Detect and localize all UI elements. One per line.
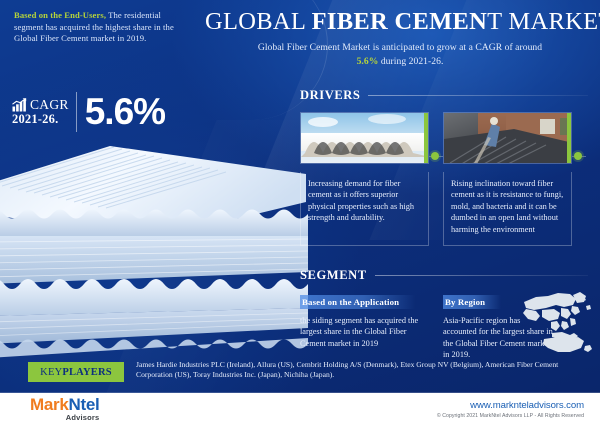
logo-mark-text: Mark bbox=[30, 395, 69, 414]
segment-text-application: the siding segment has acquired the larg… bbox=[300, 315, 429, 349]
end-user-highlight: Based on the End-Users, bbox=[14, 10, 106, 20]
title-part-strong: FIBER CEMEN bbox=[312, 8, 488, 35]
cagr-period: 2021-26. bbox=[12, 112, 69, 126]
segment-title: SEGMENT bbox=[300, 268, 367, 283]
logo-wordmark: MarkNtel bbox=[30, 396, 99, 413]
footer: MarkNtel Advisors www.marknteladvisors.c… bbox=[0, 393, 600, 425]
end-user-insight-note: Based on the End-Users, The residential … bbox=[14, 10, 190, 45]
segment-section-header: SEGMENT bbox=[300, 268, 588, 283]
driver-card-2: Rising inclination toward fiber cement a… bbox=[443, 112, 572, 246]
cagr-block: CAGR 2021-26. 5.6% bbox=[12, 92, 165, 132]
key-players-badge: KEY PLAYERS bbox=[28, 362, 124, 382]
driver-connector-dot bbox=[574, 152, 582, 160]
page-title: GLOBAL FIBER CEMENT MARKET bbox=[205, 8, 595, 36]
copyright-text: © Copyright 2021 MarkNtel Advisors LLP -… bbox=[437, 413, 584, 419]
corrugated-sheet-illustration bbox=[0, 132, 308, 367]
segment-badge-application: Based on the Application bbox=[300, 295, 415, 309]
key-players-section: KEY PLAYERS James Hardie Industries PLC … bbox=[0, 358, 600, 392]
drivers-row: Increasing demand for fiber cement as it… bbox=[300, 112, 588, 246]
roof-photo-shapes bbox=[301, 113, 429, 164]
footer-right-group: www.marknteladvisors.com © Copyright 202… bbox=[437, 400, 584, 419]
asia-pacific-map bbox=[518, 288, 596, 356]
key-players-badge-bold: PLAYERS bbox=[62, 367, 111, 378]
segment-section: SEGMENT Based on the Application the sid… bbox=[300, 268, 588, 360]
corrugated-roof-photo bbox=[300, 112, 429, 164]
key-players-badge-light: KEY bbox=[40, 367, 62, 378]
drivers-section: DRIVERS bbox=[300, 88, 588, 246]
installation-photo-shapes bbox=[444, 113, 572, 164]
header: GLOBAL FIBER CEMENT MARKET Global Fiber … bbox=[205, 8, 595, 68]
driver-card-1: Increasing demand for fiber cement as it… bbox=[300, 112, 429, 246]
drivers-section-header: DRIVERS bbox=[300, 88, 588, 103]
cagr-value: 5.6% bbox=[77, 92, 165, 132]
subtitle-tail: during 2021-26. bbox=[378, 56, 443, 67]
growth-chart-icon bbox=[12, 98, 27, 112]
page-subtitle: Global Fiber Cement Market is anticipate… bbox=[205, 41, 595, 68]
roof-installation-photo bbox=[443, 112, 572, 164]
segment-badge-region: By Region bbox=[443, 295, 501, 309]
driver-text-2: Rising inclination toward fiber cement a… bbox=[443, 172, 572, 246]
markntel-logo[interactable]: MarkNtel Advisors bbox=[30, 396, 99, 422]
logo-subtitle: Advisors bbox=[30, 414, 99, 422]
subtitle-line-1: Global Fiber Cement Market is anticipate… bbox=[258, 42, 542, 53]
driver-text-1: Increasing demand for fiber cement as it… bbox=[300, 172, 429, 246]
infographic-canvas: Based on the End-Users, The residential … bbox=[0, 0, 600, 425]
subtitle-highlight: 5.6% bbox=[357, 56, 379, 67]
key-players-list: James Hardie Industries PLC (Ireland), A… bbox=[136, 360, 578, 392]
cagr-label-group: CAGR 2021-26. bbox=[12, 98, 76, 126]
driver-connector-dot bbox=[431, 152, 439, 160]
cagr-label: CAGR bbox=[30, 98, 69, 112]
website-url[interactable]: www.marknteladvisors.com bbox=[437, 400, 584, 411]
drivers-title: DRIVERS bbox=[300, 88, 360, 103]
section-rule bbox=[375, 275, 588, 276]
logo-ntel-text: Ntel bbox=[69, 395, 100, 414]
title-part-1: GLOBAL bbox=[205, 8, 312, 35]
segment-application-block: Based on the Application the siding segm… bbox=[300, 292, 429, 360]
segment-row: Based on the Application the siding segm… bbox=[300, 292, 588, 360]
section-rule bbox=[368, 95, 588, 96]
cagr-label-row: CAGR bbox=[12, 98, 69, 112]
title-part-2: T MARKET bbox=[487, 8, 600, 35]
